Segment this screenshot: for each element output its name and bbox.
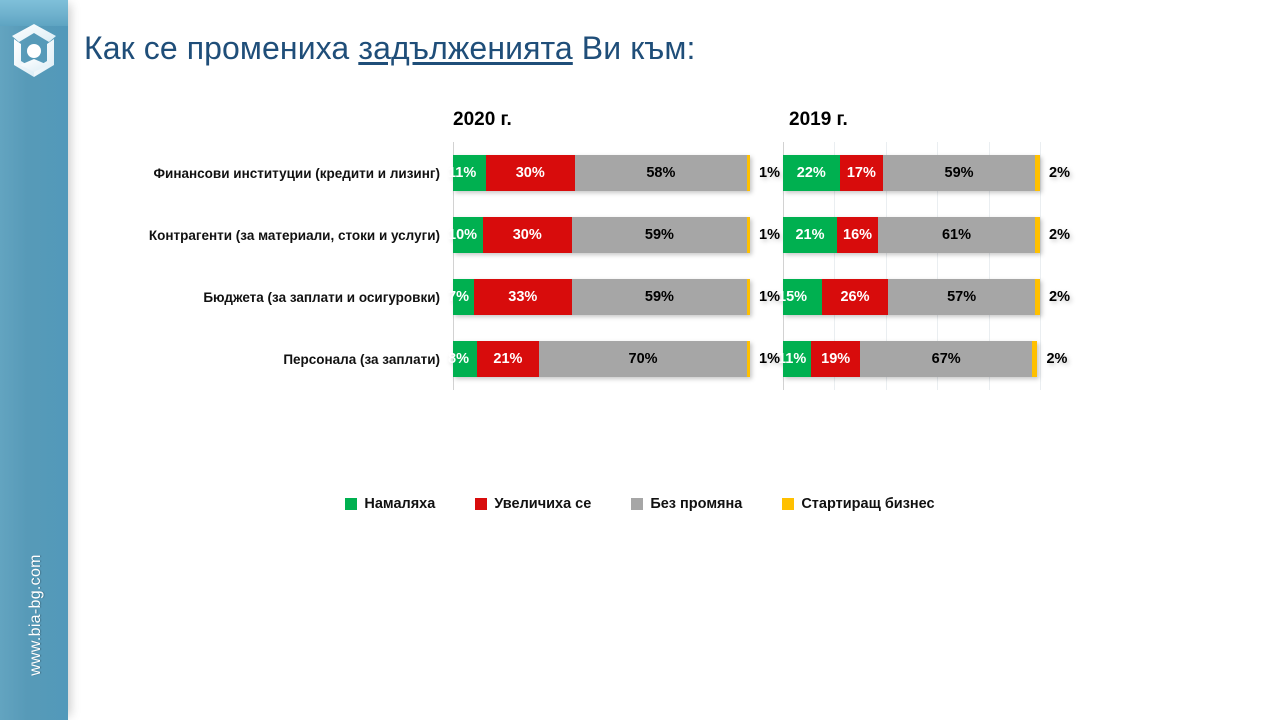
title-part-before: Как се промениха [84, 30, 358, 66]
slide: www.bia-bg.com Как се промениха задължен… [0, 0, 1280, 720]
stacked-bar[interactable]: 7% 33% 59% 1% [453, 279, 750, 315]
segment-decreased[interactable]: 8% [453, 341, 477, 377]
segment-startup[interactable]: 2% [1035, 217, 1040, 253]
segment-startup[interactable]: 2% [1035, 155, 1040, 191]
segment-unchanged[interactable]: 59% [572, 279, 747, 315]
segment-increased[interactable]: 30% [486, 155, 575, 191]
legend-swatch-gray-icon [631, 498, 643, 510]
bia-hexagon-logo-icon [8, 20, 60, 80]
legend-item-increased[interactable]: Увеличиха се [475, 496, 591, 512]
segment-startup[interactable]: 1% [747, 155, 750, 191]
segment-decreased[interactable]: 21% [783, 217, 837, 253]
gridline [1040, 142, 1041, 390]
segment-increased[interactable]: 16% [837, 217, 878, 253]
segment-decreased[interactable]: 11% [783, 341, 811, 377]
stacked-bar[interactable]: 11% 30% 58% 1% [453, 155, 750, 191]
decorative-bar-strip [78, 590, 1280, 720]
segment-increased[interactable]: 21% [477, 341, 539, 377]
legend-item-unchanged[interactable]: Без промяна [631, 496, 742, 512]
segment-increased[interactable]: 19% [811, 341, 860, 377]
segment-decreased[interactable]: 15% [783, 279, 822, 315]
category-label: Контрагенти (за материали, стоки и услуг… [149, 228, 440, 243]
segment-unchanged[interactable]: 59% [883, 155, 1035, 191]
segment-startup[interactable]: 2% [1032, 341, 1037, 377]
stacked-bar[interactable]: 8% 21% 70% 1% [453, 341, 750, 377]
category-row: Контрагенти (за материали, стоки и услуг… [78, 204, 440, 266]
legend-label: Увеличиха се [494, 496, 591, 512]
page-title: Как се промениха задълженията Ви към: [84, 30, 696, 67]
category-label: Персонала (за заплати) [283, 352, 440, 367]
bar-row: 22% 17% 59% 2% [783, 142, 1040, 204]
bar-row: 8% 21% 70% 1% [453, 328, 750, 390]
stacked-bar[interactable]: 11% 19% 67% 2% [783, 341, 1040, 377]
segment-increased[interactable]: 33% [474, 279, 572, 315]
title-part-underlined: задълженията [358, 30, 572, 66]
segment-unchanged[interactable]: 70% [539, 341, 747, 377]
segment-unchanged[interactable]: 58% [575, 155, 747, 191]
site-url-label: www.bia-bg.com [21, 515, 51, 715]
bar-row: 7% 33% 59% 1% [453, 266, 750, 328]
bar-row: 15% 26% 57% 2% [783, 266, 1040, 328]
category-row: Персонала (за заплати) [78, 328, 440, 390]
plot-2019: 22% 17% 59% 2% 21% 16% 61% 2% 15% 26% [783, 142, 1040, 390]
segment-decreased[interactable]: 22% [783, 155, 840, 191]
bar-row: 11% 19% 67% 2% [783, 328, 1040, 390]
segment-decreased[interactable]: 10% [453, 217, 483, 253]
legend-swatch-yellow-icon [782, 498, 794, 510]
bar-row: 10% 30% 59% 1% [453, 204, 750, 266]
legend-item-decreased[interactable]: Намаляха [345, 496, 435, 512]
plot-2020: 11% 30% 58% 1% 10% 30% 59% 1% 7% 33% [453, 142, 750, 390]
stacked-bar[interactable]: 21% 16% 61% 2% [783, 217, 1040, 253]
segment-increased[interactable]: 30% [483, 217, 572, 253]
category-row: Финансови институции (кредити и лизинг) [78, 142, 440, 204]
chart-area: 2020 г. 2019 г. Финансови институции (кр… [0, 100, 1280, 430]
segment-startup[interactable]: 1% [747, 279, 750, 315]
panel-title-2020: 2020 г. [453, 109, 512, 131]
stacked-bar[interactable]: 22% 17% 59% 2% [783, 155, 1040, 191]
legend-label: Стартиращ бизнес [801, 496, 934, 512]
segment-decreased[interactable]: 7% [453, 279, 474, 315]
legend-swatch-red-icon [475, 498, 487, 510]
stacked-bar[interactable]: 10% 30% 59% 1% [453, 217, 750, 253]
legend-item-startup[interactable]: Стартиращ бизнес [782, 496, 934, 512]
segment-increased[interactable]: 26% [822, 279, 889, 315]
panel-title-2019: 2019 г. [789, 109, 848, 131]
category-label: Финансови институции (кредити и лизинг) [154, 166, 440, 181]
stacked-bar[interactable]: 15% 26% 57% 2% [783, 279, 1040, 315]
segment-startup[interactable]: 1% [747, 341, 750, 377]
legend-label: Без промяна [650, 496, 742, 512]
chart-legend: Намаляха Увеличиха се Без промяна Старти… [0, 496, 1280, 512]
legend-label: Намаляха [364, 496, 435, 512]
category-row: Бюджета (за заплати и осигуровки) [78, 266, 440, 328]
bar-row: 11% 30% 58% 1% [453, 142, 750, 204]
legend-swatch-green-icon [345, 498, 357, 510]
segment-unchanged[interactable]: 57% [888, 279, 1034, 315]
segment-increased[interactable]: 17% [840, 155, 884, 191]
title-part-after: Ви към: [573, 30, 696, 66]
segment-startup[interactable]: 1% [747, 217, 750, 253]
segment-decreased[interactable]: 11% [453, 155, 486, 191]
bar-row: 21% 16% 61% 2% [783, 204, 1040, 266]
category-label: Бюджета (за заплати и осигуровки) [203, 290, 440, 305]
segment-startup[interactable]: 2% [1035, 279, 1040, 315]
category-label-column: Финансови институции (кредити и лизинг) … [78, 142, 440, 390]
segment-unchanged[interactable]: 59% [572, 217, 747, 253]
segment-unchanged[interactable]: 61% [878, 217, 1035, 253]
segment-unchanged[interactable]: 67% [860, 341, 1032, 377]
